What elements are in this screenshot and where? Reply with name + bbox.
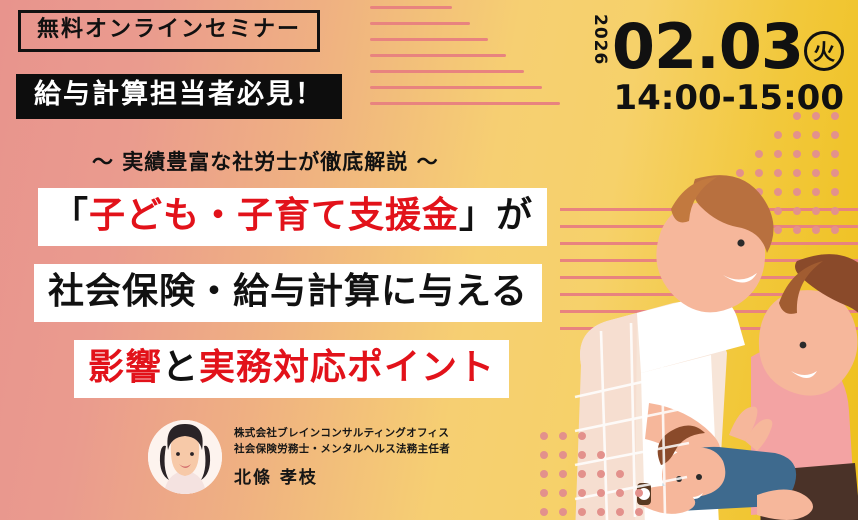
event-weekday: 火 (804, 31, 844, 71)
date-main-row: 2026 02.03 火 (591, 14, 844, 77)
seminar-type-badge: 無料オンラインセミナー (18, 10, 320, 52)
decorative-line (370, 38, 488, 41)
title-line-1-pre: 「 (52, 195, 89, 236)
title-line-2-text: 社会保険・給与計算に与える (48, 271, 528, 312)
subtitle: 〜 実績豊富な社労士が徹底解説 〜 (92, 146, 439, 176)
speaker-organization: 株式会社ブレインコンサルティングオフィス (234, 426, 450, 441)
family-illustration (545, 135, 858, 520)
title-line-1-post: 」が (459, 195, 533, 236)
decorative-line (370, 70, 524, 73)
decorative-line (370, 54, 506, 57)
decorative-line (370, 102, 560, 105)
decorative-line (370, 6, 452, 9)
title-line-3-highlight-2: 実務対応ポイント (199, 347, 495, 388)
event-year: 2026 (591, 14, 608, 65)
decorative-line (370, 86, 542, 89)
title-line-3: 影響と実務対応ポイント (74, 340, 509, 398)
speaker-block: 株式会社ブレインコンサルティングオフィス 社会保険労務士・メンタルヘルス法務主任… (148, 420, 450, 494)
speaker-name: 北條 孝枝 (234, 463, 450, 488)
title-line-1-highlight: 子ども・子育て支援金 (89, 195, 459, 236)
title-line-3-highlight-1: 影響 (88, 347, 162, 388)
event-day: 02.03 (612, 18, 803, 77)
title-line-2: 社会保険・給与計算に与える (34, 264, 542, 322)
decorative-line (370, 22, 470, 25)
speaker-text: 株式会社ブレインコンサルティングオフィス 社会保険労務士・メンタルヘルス法務主任… (234, 426, 450, 487)
title-line-1: 「子ども・子育て支援金」が (38, 188, 547, 246)
title-line-3-mid: と (162, 347, 199, 388)
seminar-poster: 無料オンラインセミナー 給与計算担当者必見！ 〜 実績豊富な社労士が徹底解説 〜… (0, 0, 858, 520)
event-date-block: 2026 02.03 火 14:00-15:00 (591, 14, 844, 115)
speaker-avatar (148, 420, 222, 494)
event-time: 14:00-15:00 (591, 81, 844, 115)
speaker-role: 社会保険労務士・メンタルヘルス法務主任者 (234, 442, 450, 457)
audience-kicker: 給与計算担当者必見！ (16, 74, 342, 119)
